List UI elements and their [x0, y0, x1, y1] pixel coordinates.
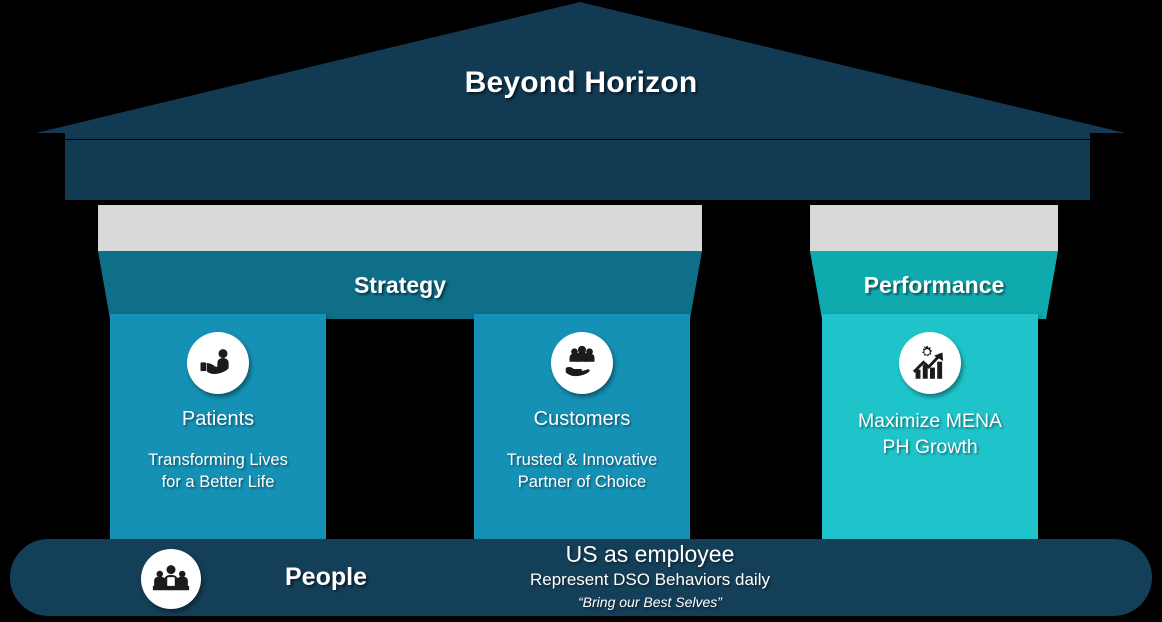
base-line-3: “Bring our Best Selves”	[430, 593, 870, 611]
base-label-people: People	[258, 563, 394, 592]
base-line-1: US as employee	[430, 541, 870, 568]
card-patients[interactable]: Patients Transforming Lives for a Better…	[110, 314, 326, 539]
card-customers[interactable]: Customers Trusted & Innovative Partner o…	[474, 314, 690, 539]
pillar-capital-performance	[810, 205, 1058, 251]
card-title-customers: Customers	[534, 408, 631, 431]
pillar-strategy[interactable]: Strategy	[98, 205, 702, 319]
hand-holding-people-icon	[551, 332, 613, 394]
growth-chart-gear-glyph	[909, 342, 951, 384]
roof-triangle-icon	[0, 0, 1162, 140]
card-subtitle-customers: Trusted & Innovative Partner of Choice	[507, 449, 658, 494]
pillar-capital-strategy	[98, 205, 702, 251]
card-performance[interactable]: Maximize MENA PH Growth	[822, 314, 1038, 539]
pillar-band-strategy: Strategy	[98, 251, 702, 319]
roof-pediment: Beyond Horizon	[0, 0, 1162, 140]
group-of-people-icon	[141, 549, 201, 609]
hand-holding-person-icon	[187, 332, 249, 394]
strategy-house-diagram: Beyond Horizon Strategy Performance	[0, 0, 1162, 622]
card-title-patients: Patients	[182, 408, 254, 431]
card-title-performance: Maximize MENA PH Growth	[858, 408, 1002, 461]
hand-holding-person-glyph	[198, 343, 238, 383]
trapezoid-shape-icon	[98, 251, 702, 319]
hand-holding-people-glyph	[562, 343, 602, 383]
base-line-2: Represent DSO Behaviors daily	[430, 569, 870, 591]
card-subtitle-patients: Transforming Lives for a Better Life	[148, 449, 288, 494]
pillar-performance[interactable]: Performance	[810, 205, 1058, 319]
entablature-bar	[65, 140, 1090, 200]
pillar-band-performance: Performance	[810, 251, 1058, 319]
growth-chart-gear-icon	[899, 332, 961, 394]
base-text-block: US as employee Represent DSO Behaviors d…	[430, 541, 870, 611]
trapezoid-shape-icon	[810, 251, 1058, 319]
group-of-people-glyph	[151, 559, 191, 599]
